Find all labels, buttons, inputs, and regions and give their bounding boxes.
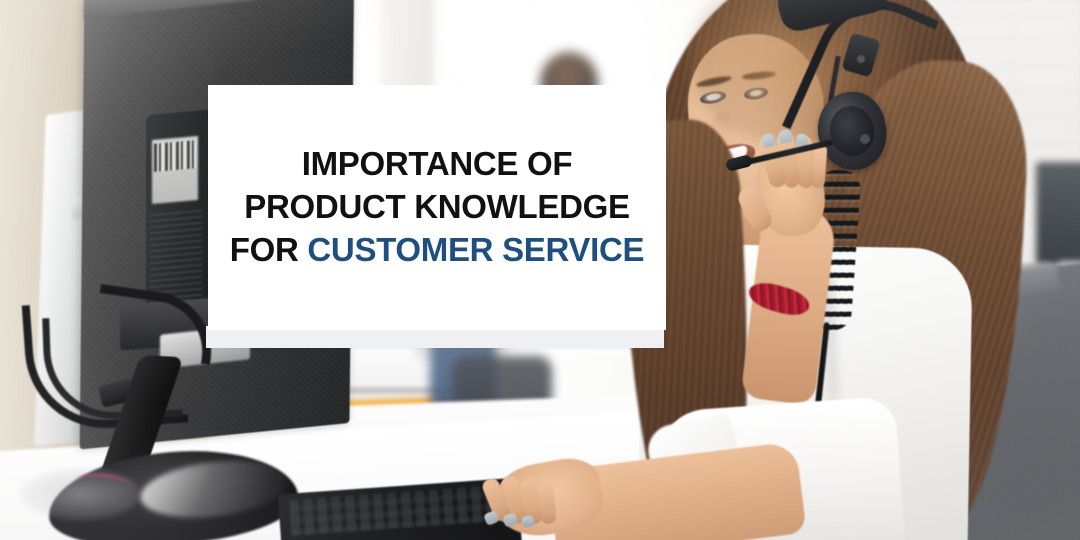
text-card-inner: IMPORTANCE OF PRODUCT KNOWLEDGE FOR CUST… xyxy=(208,143,666,272)
headline-line-1: IMPORTANCE OF xyxy=(220,143,654,186)
headline-line-3: FOR CUSTOMER SERVICE xyxy=(220,229,654,272)
banner: IMPORTANCE OF PRODUCT KNOWLEDGE FOR CUST… xyxy=(0,0,1080,540)
headline-line-2: PRODUCT KNOWLEDGE xyxy=(220,186,654,229)
headset-earcup-screw xyxy=(860,134,870,144)
text-card: IMPORTANCE OF PRODUCT KNOWLEDGE FOR CUST… xyxy=(208,85,666,330)
headline-line-3-prefix: FOR xyxy=(230,231,308,268)
fingernail-middle xyxy=(778,129,793,144)
page-title: IMPORTANCE OF PRODUCT KNOWLEDGE FOR CUST… xyxy=(220,143,654,272)
headline-accent: CUSTOMER SERVICE xyxy=(307,231,644,268)
